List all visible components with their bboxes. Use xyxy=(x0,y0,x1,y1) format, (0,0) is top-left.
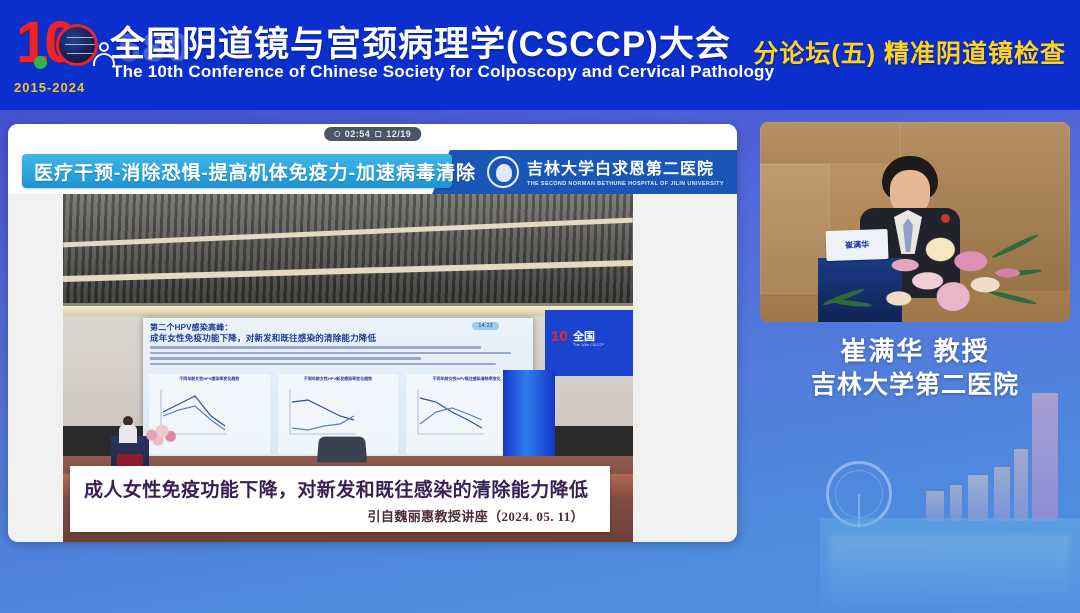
podium-flower-arrangement xyxy=(870,224,1030,322)
skyline-building xyxy=(1032,393,1058,521)
speaker-lapel-pin xyxy=(941,214,950,223)
mini-chart-title: 不同年龄女性HPV新发感染率变化趋势 xyxy=(304,376,372,382)
conference-title-en: The 10th Conference of Chinese Society f… xyxy=(112,62,774,82)
slide-caption-box: 成人女性免疫功能下降，对新发和既往感染的清除能力降低 引自魏丽惠教授讲座（202… xyxy=(70,466,610,532)
conference-backdrop-panel: 10 全国 The 10th CSCCP xyxy=(545,310,633,376)
hospital-name-cn: 吉林大学白求恩第二医院 xyxy=(527,155,724,179)
time-date-badge: 02:54 12/19 xyxy=(324,127,422,141)
projected-slide-title-line1: 第二个HPV感染高峰： xyxy=(150,323,233,333)
skyline-building xyxy=(968,475,988,521)
podium-logo xyxy=(117,454,143,466)
ceiling-shading xyxy=(63,194,633,306)
hospital-name-block: 吉林大学白求恩第二医院 THE SECOND NORMAN BETHUNE HO… xyxy=(527,155,724,187)
backdrop-sub-text: The 10th CSCCP xyxy=(573,342,604,347)
ferris-wheel-icon xyxy=(826,461,892,527)
conference-header: 10 2015-2024 580 全国阴道镜与宫颈病理学(CSCCP)大会 Th… xyxy=(0,0,1080,110)
skyline-building xyxy=(1014,449,1028,521)
forum-session-label: 分论坛(五) 精准阴道镜检查 xyxy=(753,34,1066,70)
hospital-logo-icon xyxy=(487,156,519,188)
stage-speaker-figure xyxy=(119,416,137,442)
stage-flowers xyxy=(139,422,181,448)
presenter-name: 崔满华 教授 xyxy=(760,334,1070,368)
clock-icon xyxy=(334,131,340,137)
slide-banner-title-pill: 医疗干预-消除恐惧-提高机体免疫力-加速病毒清除 xyxy=(22,154,452,188)
projected-slide-body xyxy=(150,346,526,368)
projected-slide-title-line2: 成年女性免疫功能下降，对新发和既往感染的清除能力降低 xyxy=(150,333,376,343)
logo-dot xyxy=(34,56,47,69)
hospital-banner-area: 吉林大学白求恩第二医院 THE SECOND NORMAN BETHUNE HO… xyxy=(467,150,737,194)
skyline-building xyxy=(994,467,1010,521)
anniversary-years-text: 2015-2024 xyxy=(14,80,85,95)
time-text: 02:54 xyxy=(345,129,371,139)
slide-banner: 吉林大学白求恩第二医院 THE SECOND NORMAN BETHUNE HO… xyxy=(8,150,737,194)
mini-chart-title: 不同年龄女性HPV感染率变化趋势 xyxy=(179,376,239,382)
slide-top-strip: 02:54 12/19 xyxy=(8,124,737,150)
slide-caption-source: 引自魏丽惠教授讲座（2024. 05. 11） xyxy=(368,506,584,525)
backdrop-ten-text: 10 xyxy=(551,328,568,345)
slide-banner-title: 医疗干预-消除恐惧-提高机体免疫力-加速病毒清除 xyxy=(22,158,476,185)
stage-monitor xyxy=(317,437,367,463)
projected-slide-pill: 14:22 xyxy=(472,322,499,330)
presentation-slide-panel[interactable]: 02:54 12/19 吉林大学白求恩第二医院 THE SECOND NORMA… xyxy=(8,124,737,542)
anniversary-logo-icon: 10 2015-2024 xyxy=(12,8,120,100)
conference-title-cn: 全国阴道镜与宫颈病理学(CSCCP)大会 xyxy=(110,16,731,67)
calendar-icon xyxy=(375,131,381,137)
presenter-organization: 吉林大学第二医院 xyxy=(760,368,1070,402)
hospital-name-en: THE SECOND NORMAN BETHUNE HOSPITAL OF JI… xyxy=(527,181,724,187)
water-reflection xyxy=(830,535,1070,605)
skyline-building xyxy=(926,491,944,521)
date-text: 12/19 xyxy=(386,129,411,139)
slide-caption-main: 成人女性免疫功能下降，对新发和既往感染的清除能力降低 xyxy=(84,475,588,502)
skyline-building xyxy=(950,485,962,521)
broadcast-stage: 10 2015-2024 580 全国阴道镜与宫颈病理学(CSCCP)大会 Th… xyxy=(0,0,1080,613)
presenter-info: 崔满华 教授 吉林大学第二医院 xyxy=(760,334,1070,402)
speaker-nameplate-text: 崔满华 xyxy=(845,239,869,251)
river-water xyxy=(820,518,1080,613)
city-skyline-decoration xyxy=(820,373,1080,613)
mini-chart-title: 不同年龄女性HPV既往感染清除率变化 xyxy=(433,376,501,382)
speaker-video-feed[interactable]: 崔满华 xyxy=(760,122,1070,322)
